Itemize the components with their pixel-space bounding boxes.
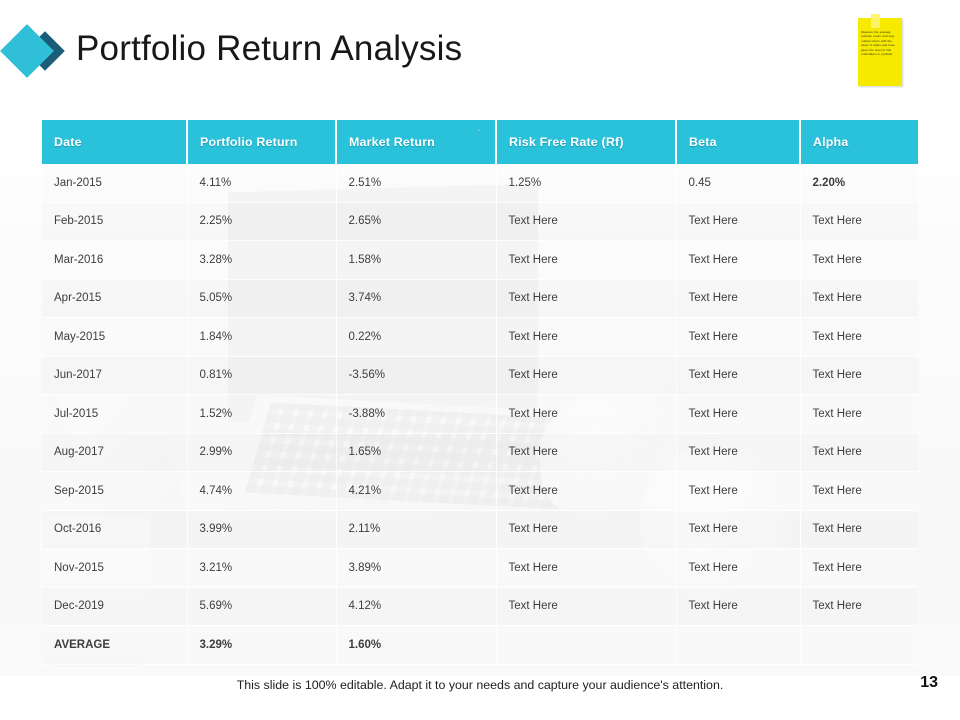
cell-market-return: 1.58% xyxy=(336,241,496,280)
cell-average-portfolio-return: 3.29% xyxy=(187,626,336,665)
cell-portfolio-return: 1.84% xyxy=(187,318,336,357)
cell-date: Mar-2016 xyxy=(42,241,187,280)
cell-alpha: Text Here xyxy=(800,472,918,511)
cell-alpha: Text Here xyxy=(800,587,918,626)
cell-beta: Text Here xyxy=(676,433,800,472)
column-header-market-return[interactable]: Market Return ` xyxy=(336,120,496,164)
cell-date: May-2015 xyxy=(42,318,187,357)
cell-market-return: 3.74% xyxy=(336,279,496,318)
cell-beta: Text Here xyxy=(676,279,800,318)
cell-alpha: Text Here xyxy=(800,356,918,395)
column-header-market-return-label: Market Return xyxy=(349,135,435,149)
column-header-alpha[interactable]: Alpha xyxy=(800,120,918,164)
cell-average-label: AVERAGE xyxy=(42,626,187,665)
table-row[interactable]: Nov-2015 3.21% 3.89% Text Here Text Here… xyxy=(42,549,918,588)
cell-market-return: 4.21% xyxy=(336,472,496,511)
cell-market-return: 4.12% xyxy=(336,587,496,626)
table-row[interactable]: Dec-2019 5.69% 4.12% Text Here Text Here… xyxy=(42,587,918,626)
diamond-logo-icon xyxy=(0,19,70,79)
cell-risk-free-rate: Text Here xyxy=(496,395,676,434)
cell-beta: Text Here xyxy=(676,356,800,395)
cell-portfolio-return: 3.28% xyxy=(187,241,336,280)
cell-beta: Text Here xyxy=(676,587,800,626)
cell-market-return: -3.88% xyxy=(336,395,496,434)
footer-note: This slide is 100% editable. Adapt it to… xyxy=(0,678,960,692)
header-tick-mark-icon: ` xyxy=(477,129,481,141)
cell-portfolio-return: 0.81% xyxy=(187,356,336,395)
cell-date: Jan-2015 xyxy=(42,164,187,202)
cell-alpha: Text Here xyxy=(800,433,918,472)
cell-portfolio-return: 2.25% xyxy=(187,202,336,241)
cell-average-alpha xyxy=(800,626,918,665)
sticky-note: Measure the average portfolio return and… xyxy=(858,18,902,86)
cell-date: Oct-2016 xyxy=(42,510,187,549)
cell-portfolio-return: 4.11% xyxy=(187,164,336,202)
cell-date: Dec-2019 xyxy=(42,587,187,626)
table-container: Date Portfolio Return Market Return ` Ri… xyxy=(42,120,918,648)
cell-alpha: Text Here xyxy=(800,510,918,549)
portfolio-return-table: Date Portfolio Return Market Return ` Ri… xyxy=(42,120,918,665)
cell-market-return: -3.56% xyxy=(336,356,496,395)
cell-date: Jul-2015 xyxy=(42,395,187,434)
table-row[interactable]: Jun-2017 0.81% -3.56% Text Here Text Her… xyxy=(42,356,918,395)
cell-portfolio-return: 5.69% xyxy=(187,587,336,626)
cell-portfolio-return: 3.21% xyxy=(187,549,336,588)
cell-date: Nov-2015 xyxy=(42,549,187,588)
column-header-beta[interactable]: Beta xyxy=(676,120,800,164)
cell-risk-free-rate: Text Here xyxy=(496,549,676,588)
cell-risk-free-rate: 1.25% xyxy=(496,164,676,202)
cell-risk-free-rate: Text Here xyxy=(496,202,676,241)
cell-risk-free-rate: Text Here xyxy=(496,356,676,395)
sticky-note-tape-icon xyxy=(871,14,880,28)
cell-risk-free-rate: Text Here xyxy=(496,318,676,357)
page-title: Portfolio Return Analysis xyxy=(76,29,462,69)
cell-alpha: Text Here xyxy=(800,318,918,357)
table-row[interactable]: Mar-2016 3.28% 1.58% Text Here Text Here… xyxy=(42,241,918,280)
table-row[interactable]: Aug-2017 2.99% 1.65% Text Here Text Here… xyxy=(42,433,918,472)
cell-portfolio-return: 5.05% xyxy=(187,279,336,318)
column-header-date[interactable]: Date xyxy=(42,120,187,164)
table-row[interactable]: Apr-2015 5.05% 3.74% Text Here Text Here… xyxy=(42,279,918,318)
cell-average-market-return: 1.60% xyxy=(336,626,496,665)
cell-date: Jun-2017 xyxy=(42,356,187,395)
table-header-row: Date Portfolio Return Market Return ` Ri… xyxy=(42,120,918,164)
cell-average-risk-free-rate xyxy=(496,626,676,665)
cell-beta: Text Here xyxy=(676,549,800,588)
cell-market-return: 2.11% xyxy=(336,510,496,549)
table-average-row[interactable]: AVERAGE 3.29% 1.60% xyxy=(42,626,918,665)
table-row[interactable]: Feb-2015 2.25% 2.65% Text Here Text Here… xyxy=(42,202,918,241)
table-row[interactable]: Oct-2016 3.99% 2.11% Text Here Text Here… xyxy=(42,510,918,549)
cell-risk-free-rate: Text Here xyxy=(496,587,676,626)
table-row[interactable]: Jan-2015 4.11% 2.51% 1.25% 0.45 2.20% xyxy=(42,164,918,202)
column-header-portfolio-return[interactable]: Portfolio Return xyxy=(187,120,336,164)
cell-alpha: Text Here xyxy=(800,241,918,280)
cell-beta: Text Here xyxy=(676,510,800,549)
column-header-risk-free-rate[interactable]: Risk Free Rate (Rf) xyxy=(496,120,676,164)
cell-market-return: 0.22% xyxy=(336,318,496,357)
cell-date: Feb-2015 xyxy=(42,202,187,241)
cell-date: Sep-2015 xyxy=(42,472,187,511)
cell-beta: 0.45 xyxy=(676,164,800,202)
cell-risk-free-rate: Text Here xyxy=(496,433,676,472)
cell-risk-free-rate: Text Here xyxy=(496,510,676,549)
cell-portfolio-return: 1.52% xyxy=(187,395,336,434)
cell-alpha: Text Here xyxy=(800,395,918,434)
cell-date: Aug-2017 xyxy=(42,433,187,472)
cell-portfolio-return: 2.99% xyxy=(187,433,336,472)
cell-risk-free-rate: Text Here xyxy=(496,472,676,511)
cell-portfolio-return: 4.74% xyxy=(187,472,336,511)
cell-risk-free-rate: Text Here xyxy=(496,241,676,280)
slide-header: Portfolio Return Analysis xyxy=(0,18,820,80)
cell-market-return: 2.51% xyxy=(336,164,496,202)
cell-portfolio-return: 3.99% xyxy=(187,510,336,549)
cell-alpha: 2.20% xyxy=(800,164,918,202)
table-row[interactable]: Jul-2015 1.52% -3.88% Text Here Text Her… xyxy=(42,395,918,434)
cell-average-beta xyxy=(676,626,800,665)
cell-date: Apr-2015 xyxy=(42,279,187,318)
table-row[interactable]: Sep-2015 4.74% 4.21% Text Here Text Here… xyxy=(42,472,918,511)
cell-market-return: 3.89% xyxy=(336,549,496,588)
cell-beta: Text Here xyxy=(676,318,800,357)
cell-alpha: Text Here xyxy=(800,202,918,241)
table-row[interactable]: May-2015 1.84% 0.22% Text Here Text Here… xyxy=(42,318,918,357)
cell-beta: Text Here xyxy=(676,472,800,511)
cell-risk-free-rate: Text Here xyxy=(496,279,676,318)
cell-alpha: Text Here xyxy=(800,549,918,588)
cell-market-return: 1.65% xyxy=(336,433,496,472)
cell-beta: Text Here xyxy=(676,395,800,434)
sticky-note-text: Measure the average portfolio return and… xyxy=(861,30,900,57)
cell-alpha: Text Here xyxy=(800,279,918,318)
page-number: 13 xyxy=(920,674,938,692)
table-body: Jan-2015 4.11% 2.51% 1.25% 0.45 2.20% Fe… xyxy=(42,164,918,664)
cell-beta: Text Here xyxy=(676,241,800,280)
slide-canvas: Portfolio Return Analysis Measure the av… xyxy=(0,0,960,720)
cell-market-return: 2.65% xyxy=(336,202,496,241)
cell-beta: Text Here xyxy=(676,202,800,241)
